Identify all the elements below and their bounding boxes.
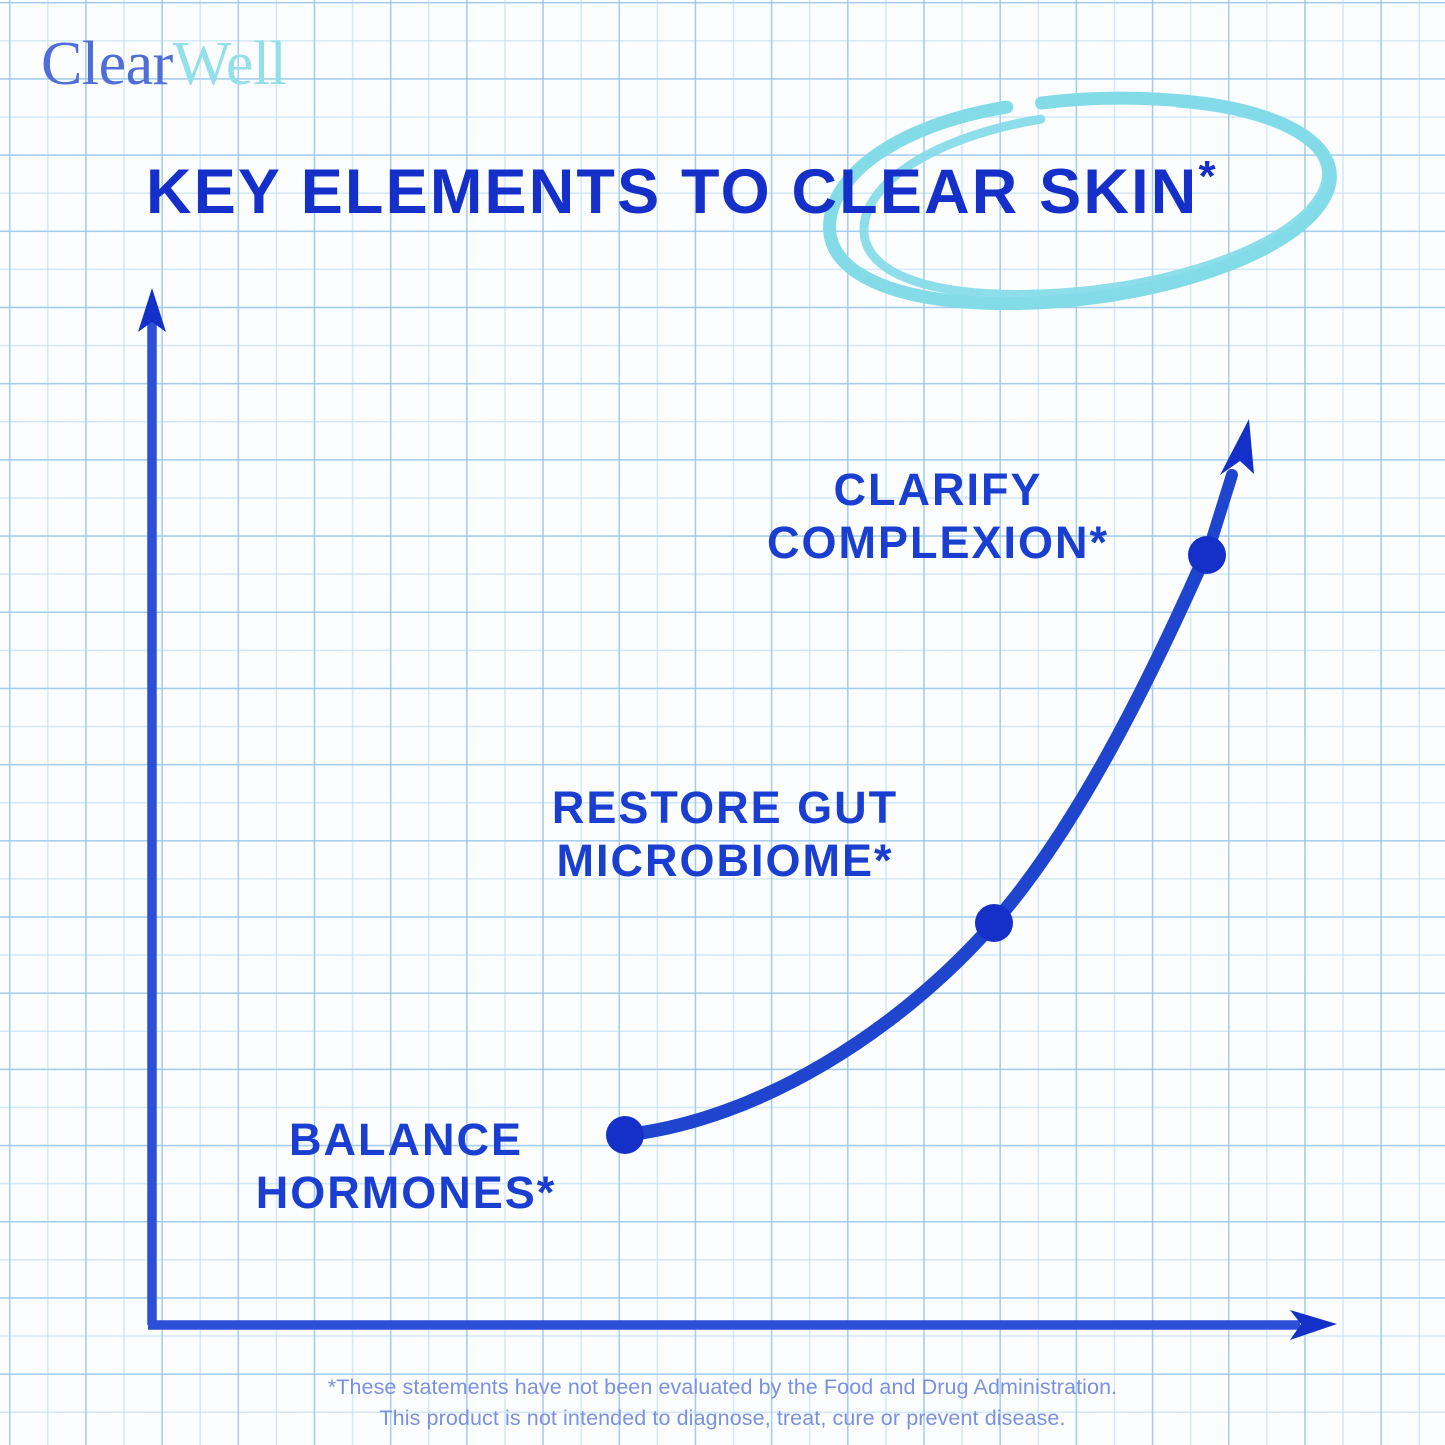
page-title-asterisk: * xyxy=(1199,152,1216,201)
logo-word-clear: Clear xyxy=(41,30,173,98)
disclaimer-line-2: This product is not intended to diagnose… xyxy=(0,1403,1445,1434)
page-title-text: KEY ELEMENTS TO CLEAR SKIN xyxy=(146,157,1199,227)
disclaimer-line-1: *These statements have not been evaluate… xyxy=(0,1372,1445,1403)
page-title: KEY ELEMENTS TO CLEAR SKIN* xyxy=(146,152,1216,228)
brand-logo: ClearWell xyxy=(41,33,286,95)
data-label-balance-hormones: BALANCE HORMONES* xyxy=(196,1114,616,1219)
infographic-canvas: ClearWell KEY ELEMENTS TO CLEAR SKIN* xyxy=(0,0,1445,1445)
legal-disclaimer: *These statements have not been evaluate… xyxy=(0,1372,1445,1433)
logo-word-well: Well xyxy=(173,30,287,98)
data-label-restore-gut-microbiome: RESTORE GUT MICROBIOME* xyxy=(490,782,960,887)
data-label-clarify-complexion: CLARIFY COMPLEXION* xyxy=(708,464,1168,569)
